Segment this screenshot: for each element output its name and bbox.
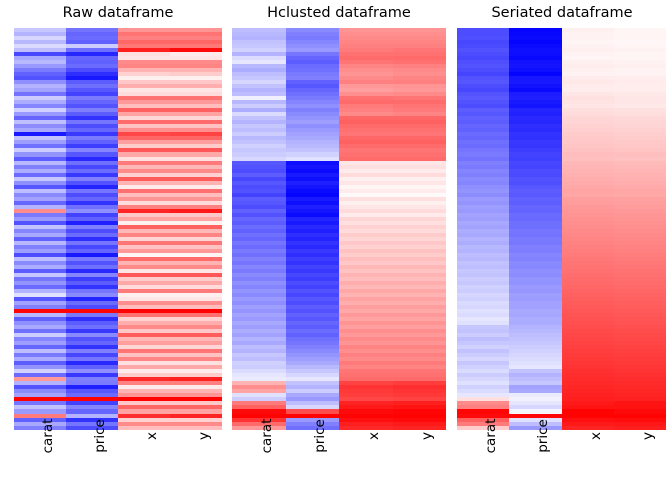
panel-title-hclusted: Hclusted dataframe (232, 4, 446, 22)
xtick-price: price (509, 434, 561, 480)
xtick-label: x (144, 432, 160, 440)
xtick-label: price (92, 419, 108, 453)
heatmap-panel-hclusted[interactable] (232, 28, 446, 430)
xtick-price: price (286, 434, 340, 480)
xtick-label: price (312, 419, 328, 453)
xtick-y: y (170, 434, 222, 480)
heatmap-cell-x (339, 426, 393, 430)
xtick-carat: carat (232, 434, 286, 480)
heatmap-grid (457, 28, 666, 430)
heatmap-cell-x (118, 426, 170, 430)
xtick-label: y (196, 432, 212, 440)
xtick-label: carat (40, 419, 56, 454)
xtick-carat: carat (14, 434, 66, 480)
figure-canvas: Raw dataframe carat price x y Hclusted d… (0, 0, 672, 480)
xtick-labels-hclusted: carat price x y (232, 434, 446, 480)
heatmap-panel-seriated[interactable] (457, 28, 666, 430)
xtick-x: x (118, 434, 170, 480)
xtick-y: y (614, 434, 666, 480)
xtick-label: carat (483, 419, 499, 454)
heatmap-cell-y (614, 426, 666, 430)
heatmap-grid (232, 28, 446, 430)
heatmap-cell-y (393, 426, 447, 430)
xtick-x: x (562, 434, 614, 480)
heatmap-panel-raw[interactable] (14, 28, 222, 430)
xtick-label: carat (259, 419, 275, 454)
heatmap-cell-y (170, 426, 222, 430)
xtick-price: price (66, 434, 118, 480)
heatmap-grid (14, 28, 222, 430)
panel-title-seriated: Seriated dataframe (457, 4, 667, 22)
xtick-label: x (588, 432, 604, 440)
xtick-x: x (339, 434, 393, 480)
xtick-labels-raw: carat price x y (14, 434, 222, 480)
xtick-label: y (640, 432, 656, 440)
xtick-carat: carat (457, 434, 509, 480)
xtick-label: price (535, 419, 551, 453)
xtick-labels-seriated: carat price x y (457, 434, 666, 480)
xtick-label: x (366, 432, 382, 440)
xtick-y: y (393, 434, 447, 480)
heatmap-cell-x (562, 426, 614, 430)
xtick-label: y (419, 432, 435, 440)
panel-title-raw: Raw dataframe (14, 4, 222, 22)
